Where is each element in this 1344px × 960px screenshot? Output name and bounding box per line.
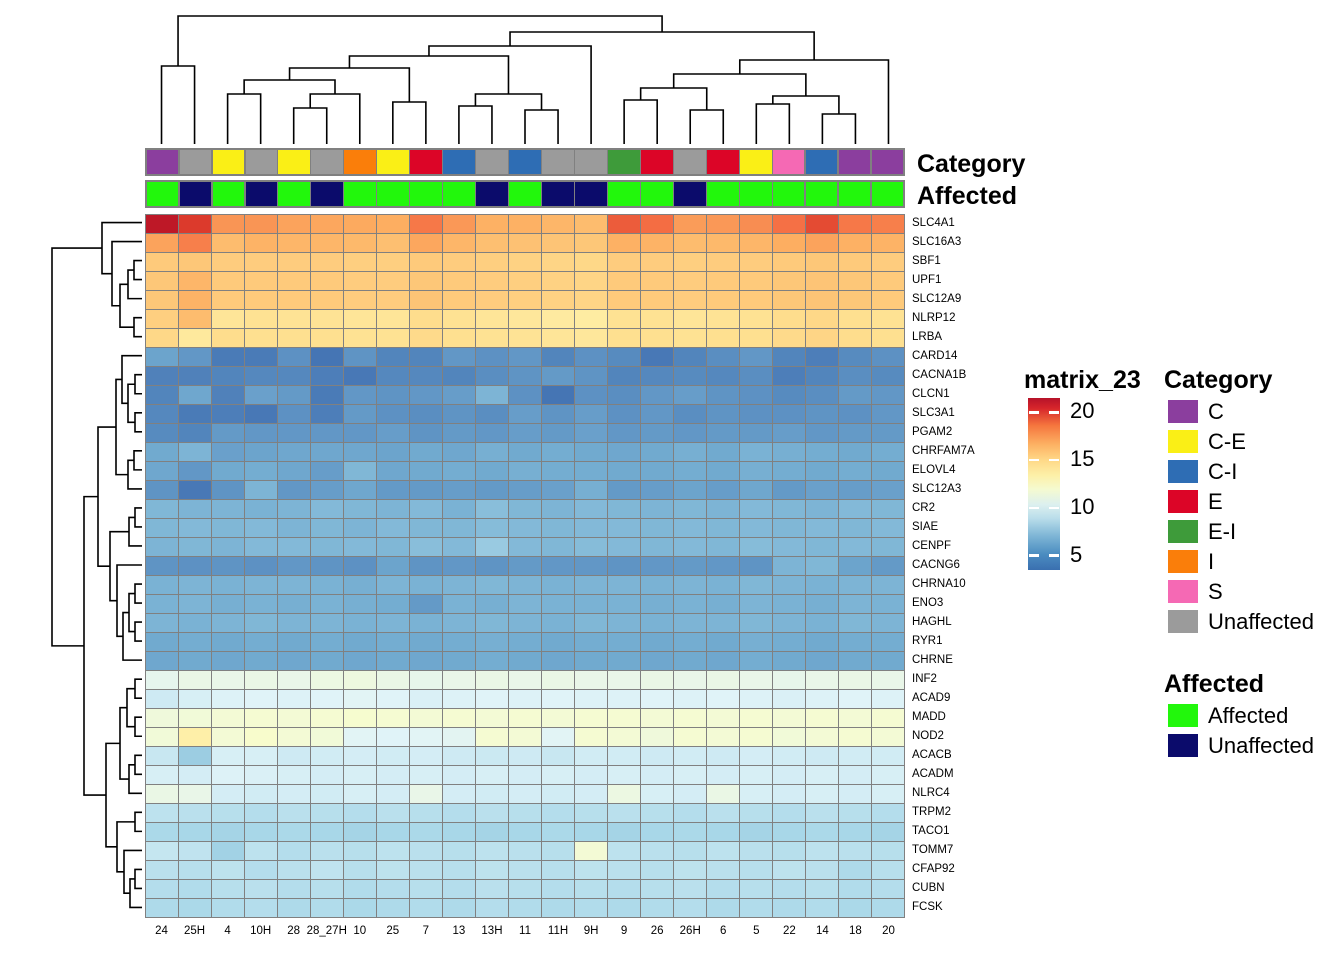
- affected-annotation-cell[interactable]: [707, 182, 738, 207]
- heatmap-cell[interactable]: [674, 576, 706, 594]
- heatmap-cell[interactable]: [377, 481, 409, 499]
- heatmap-cell[interactable]: [146, 766, 178, 784]
- heatmap-cell[interactable]: [311, 386, 343, 404]
- heatmap-cell[interactable]: [773, 576, 805, 594]
- heatmap-cell[interactable]: [146, 253, 178, 271]
- heatmap-cell[interactable]: [410, 500, 442, 518]
- heatmap-cell[interactable]: [872, 785, 904, 803]
- heatmap-cell[interactable]: [674, 329, 706, 347]
- heatmap-cell[interactable]: [377, 652, 409, 670]
- heatmap-cell[interactable]: [542, 614, 574, 632]
- heatmap-cell[interactable]: [707, 405, 739, 423]
- heatmap-cell[interactable]: [641, 614, 673, 632]
- heatmap-cell[interactable]: [410, 424, 442, 442]
- heatmap-cell[interactable]: [575, 804, 607, 822]
- heatmap-cell[interactable]: [608, 272, 640, 290]
- heatmap-cell[interactable]: [641, 519, 673, 537]
- heatmap-cell[interactable]: [245, 272, 277, 290]
- heatmap-cell[interactable]: [674, 367, 706, 385]
- heatmap-cell[interactable]: [641, 785, 673, 803]
- heatmap-cell[interactable]: [674, 804, 706, 822]
- heatmap-cell[interactable]: [311, 272, 343, 290]
- heatmap-cell[interactable]: [245, 462, 277, 480]
- heatmap-cell[interactable]: [278, 652, 310, 670]
- heatmap-cell[interactable]: [872, 234, 904, 252]
- heatmap-cell[interactable]: [608, 823, 640, 841]
- heatmap-cell[interactable]: [212, 747, 244, 765]
- heatmap-cell[interactable]: [179, 804, 211, 822]
- heatmap-cell[interactable]: [707, 462, 739, 480]
- heatmap-cell[interactable]: [443, 557, 475, 575]
- heatmap-cell[interactable]: [245, 823, 277, 841]
- heatmap-cell[interactable]: [674, 861, 706, 879]
- heatmap-cell[interactable]: [839, 671, 871, 689]
- heatmap-cell[interactable]: [773, 747, 805, 765]
- heatmap-cell[interactable]: [278, 861, 310, 879]
- heatmap-cell[interactable]: [674, 671, 706, 689]
- heatmap-cell[interactable]: [542, 747, 574, 765]
- heatmap-cell[interactable]: [740, 215, 772, 233]
- heatmap-cell[interactable]: [773, 310, 805, 328]
- heatmap-cell[interactable]: [872, 443, 904, 461]
- heatmap-cell[interactable]: [773, 671, 805, 689]
- heatmap-cell[interactable]: [641, 671, 673, 689]
- heatmap-cell[interactable]: [278, 785, 310, 803]
- heatmap-cell[interactable]: [146, 538, 178, 556]
- heatmap-cell[interactable]: [740, 500, 772, 518]
- heatmap-cell[interactable]: [641, 538, 673, 556]
- heatmap-cell[interactable]: [806, 690, 838, 708]
- heatmap-cell[interactable]: [212, 405, 244, 423]
- heatmap-cell[interactable]: [146, 310, 178, 328]
- heatmap-cell[interactable]: [872, 614, 904, 632]
- heatmap-cell[interactable]: [839, 576, 871, 594]
- heatmap-cell[interactable]: [476, 500, 508, 518]
- heatmap-cell[interactable]: [806, 557, 838, 575]
- heatmap-cell[interactable]: [410, 652, 442, 670]
- heatmap-cell[interactable]: [773, 481, 805, 499]
- heatmap-cell[interactable]: [872, 291, 904, 309]
- heatmap-cell[interactable]: [146, 652, 178, 670]
- heatmap-cell[interactable]: [608, 462, 640, 480]
- heatmap-cell[interactable]: [641, 823, 673, 841]
- heatmap-cell[interactable]: [740, 614, 772, 632]
- heatmap-cell[interactable]: [806, 538, 838, 556]
- heatmap-cell[interactable]: [344, 310, 376, 328]
- heatmap-cell[interactable]: [740, 595, 772, 613]
- heatmap-cell[interactable]: [476, 899, 508, 917]
- heatmap-cell[interactable]: [740, 709, 772, 727]
- heatmap-cell[interactable]: [872, 462, 904, 480]
- heatmap-cell[interactable]: [476, 405, 508, 423]
- heatmap-cell[interactable]: [806, 443, 838, 461]
- heatmap-cell[interactable]: [641, 272, 673, 290]
- heatmap-cell[interactable]: [410, 709, 442, 727]
- heatmap-cell[interactable]: [740, 253, 772, 271]
- heatmap-cell[interactable]: [674, 747, 706, 765]
- heatmap-cell[interactable]: [410, 633, 442, 651]
- heatmap-cell[interactable]: [410, 272, 442, 290]
- heatmap-cell[interactable]: [806, 899, 838, 917]
- heatmap-cell[interactable]: [542, 367, 574, 385]
- heatmap-cell[interactable]: [212, 671, 244, 689]
- heatmap-cell[interactable]: [740, 405, 772, 423]
- category-annotation-cell[interactable]: [542, 150, 573, 175]
- heatmap-cell[interactable]: [707, 747, 739, 765]
- heatmap-cell[interactable]: [344, 747, 376, 765]
- heatmap-cell[interactable]: [806, 671, 838, 689]
- heatmap-cell[interactable]: [674, 652, 706, 670]
- category-annotation-cell[interactable]: [311, 150, 342, 175]
- heatmap-cell[interactable]: [443, 842, 475, 860]
- heatmap-cell[interactable]: [245, 519, 277, 537]
- heatmap-cell[interactable]: [575, 519, 607, 537]
- heatmap-cell[interactable]: [146, 728, 178, 746]
- heatmap-cell[interactable]: [806, 880, 838, 898]
- heatmap-cell[interactable]: [674, 557, 706, 575]
- heatmap-cell[interactable]: [839, 899, 871, 917]
- heatmap-cell[interactable]: [443, 462, 475, 480]
- heatmap-cell[interactable]: [245, 652, 277, 670]
- heatmap-cell[interactable]: [476, 595, 508, 613]
- heatmap-cell[interactable]: [806, 804, 838, 822]
- heatmap-cell[interactable]: [806, 310, 838, 328]
- heatmap-cell[interactable]: [509, 842, 541, 860]
- heatmap-cell[interactable]: [245, 899, 277, 917]
- heatmap-cell[interactable]: [212, 842, 244, 860]
- heatmap-cell[interactable]: [212, 443, 244, 461]
- heatmap-cell[interactable]: [806, 728, 838, 746]
- heatmap-cell[interactable]: [608, 861, 640, 879]
- heatmap-cell[interactable]: [773, 215, 805, 233]
- heatmap-cell[interactable]: [377, 785, 409, 803]
- heatmap-cell[interactable]: [245, 842, 277, 860]
- heatmap-cell[interactable]: [179, 747, 211, 765]
- heatmap-cell[interactable]: [179, 329, 211, 347]
- heatmap-cell[interactable]: [476, 519, 508, 537]
- heatmap-cell[interactable]: [707, 424, 739, 442]
- heatmap-cell[interactable]: [377, 329, 409, 347]
- heatmap-cell[interactable]: [608, 234, 640, 252]
- heatmap-cell[interactable]: [443, 747, 475, 765]
- heatmap-cell[interactable]: [707, 253, 739, 271]
- heatmap-cell[interactable]: [674, 348, 706, 366]
- heatmap-cell[interactable]: [872, 367, 904, 385]
- heatmap-cell[interactable]: [212, 880, 244, 898]
- heatmap-cell[interactable]: [740, 671, 772, 689]
- heatmap-cell[interactable]: [146, 215, 178, 233]
- heatmap-cell[interactable]: [410, 614, 442, 632]
- heatmap-cell[interactable]: [641, 652, 673, 670]
- heatmap-cell[interactable]: [443, 709, 475, 727]
- heatmap-cell[interactable]: [509, 253, 541, 271]
- heatmap-cell[interactable]: [740, 386, 772, 404]
- heatmap-cell[interactable]: [146, 234, 178, 252]
- heatmap-cell[interactable]: [476, 728, 508, 746]
- heatmap-cell[interactable]: [641, 576, 673, 594]
- heatmap-cell[interactable]: [773, 405, 805, 423]
- heatmap-cell[interactable]: [344, 804, 376, 822]
- heatmap-cell[interactable]: [839, 234, 871, 252]
- heatmap-cell[interactable]: [509, 557, 541, 575]
- heatmap-cell[interactable]: [542, 652, 574, 670]
- affected-annotation-cell[interactable]: [542, 182, 573, 207]
- heatmap-cell[interactable]: [278, 272, 310, 290]
- heatmap-cell[interactable]: [806, 481, 838, 499]
- heatmap-cell[interactable]: [707, 291, 739, 309]
- heatmap-cell[interactable]: [179, 538, 211, 556]
- affected-annotation-cell[interactable]: [410, 182, 441, 207]
- heatmap-cell[interactable]: [542, 291, 574, 309]
- heatmap-cell[interactable]: [443, 253, 475, 271]
- heatmap-cell[interactable]: [311, 538, 343, 556]
- heatmap-cell[interactable]: [146, 367, 178, 385]
- heatmap-cell[interactable]: [278, 424, 310, 442]
- heatmap-cell[interactable]: [311, 310, 343, 328]
- affected-annotation-cell[interactable]: [740, 182, 771, 207]
- heatmap-cell[interactable]: [542, 253, 574, 271]
- heatmap-cell[interactable]: [179, 652, 211, 670]
- heatmap-cell[interactable]: [377, 899, 409, 917]
- category-annotation-cell[interactable]: [410, 150, 441, 175]
- heatmap-cell[interactable]: [773, 652, 805, 670]
- heatmap-cell[interactable]: [542, 671, 574, 689]
- heatmap-cell[interactable]: [245, 804, 277, 822]
- heatmap-cell[interactable]: [641, 310, 673, 328]
- heatmap-cell[interactable]: [839, 728, 871, 746]
- heatmap-cell[interactable]: [146, 747, 178, 765]
- heatmap-cell[interactable]: [575, 842, 607, 860]
- heatmap-cell[interactable]: [641, 443, 673, 461]
- heatmap-cell[interactable]: [674, 538, 706, 556]
- heatmap-cell[interactable]: [608, 880, 640, 898]
- heatmap-cell[interactable]: [872, 519, 904, 537]
- affected-annotation-cell[interactable]: [806, 182, 837, 207]
- category-annotation-cell[interactable]: [575, 150, 606, 175]
- heatmap-cell[interactable]: [179, 462, 211, 480]
- heatmap-cell[interactable]: [344, 880, 376, 898]
- heatmap-cell[interactable]: [410, 595, 442, 613]
- heatmap-cell[interactable]: [806, 424, 838, 442]
- heatmap-cell[interactable]: [179, 215, 211, 233]
- heatmap-cell[interactable]: [806, 595, 838, 613]
- heatmap-cell[interactable]: [179, 557, 211, 575]
- heatmap-cell[interactable]: [443, 804, 475, 822]
- heatmap-cell[interactable]: [212, 234, 244, 252]
- heatmap-cell[interactable]: [806, 747, 838, 765]
- heatmap-cell[interactable]: [476, 443, 508, 461]
- heatmap-cell[interactable]: [608, 500, 640, 518]
- heatmap-cell[interactable]: [179, 595, 211, 613]
- category-annotation-cell[interactable]: [443, 150, 474, 175]
- heatmap-cell[interactable]: [179, 728, 211, 746]
- heatmap-cell[interactable]: [410, 842, 442, 860]
- heatmap-cell[interactable]: [278, 671, 310, 689]
- heatmap-cell[interactable]: [641, 329, 673, 347]
- heatmap-cell[interactable]: [245, 405, 277, 423]
- heatmap-cell[interactable]: [443, 367, 475, 385]
- heatmap-cell[interactable]: [245, 310, 277, 328]
- heatmap-cell[interactable]: [410, 823, 442, 841]
- heatmap-cell[interactable]: [476, 424, 508, 442]
- heatmap-cell[interactable]: [773, 462, 805, 480]
- heatmap-cell[interactable]: [476, 747, 508, 765]
- heatmap-cell[interactable]: [674, 899, 706, 917]
- heatmap-cell[interactable]: [146, 614, 178, 632]
- heatmap-cell[interactable]: [311, 424, 343, 442]
- heatmap-cell[interactable]: [212, 633, 244, 651]
- heatmap-cell[interactable]: [443, 633, 475, 651]
- heatmap-cell[interactable]: [740, 348, 772, 366]
- heatmap-cell[interactable]: [377, 614, 409, 632]
- heatmap-cell[interactable]: [674, 462, 706, 480]
- heatmap-cell[interactable]: [245, 215, 277, 233]
- heatmap-cell[interactable]: [839, 443, 871, 461]
- heatmap-cell[interactable]: [278, 481, 310, 499]
- heatmap-cell[interactable]: [278, 804, 310, 822]
- heatmap-cell[interactable]: [575, 671, 607, 689]
- heatmap-cell[interactable]: [542, 405, 574, 423]
- heatmap-cell[interactable]: [806, 614, 838, 632]
- heatmap-cell[interactable]: [641, 595, 673, 613]
- heatmap-cell[interactable]: [212, 519, 244, 537]
- heatmap-cell[interactable]: [410, 348, 442, 366]
- heatmap-cell[interactable]: [707, 576, 739, 594]
- heatmap-cell[interactable]: [212, 215, 244, 233]
- heatmap-cell[interactable]: [311, 234, 343, 252]
- heatmap-cell[interactable]: [410, 899, 442, 917]
- heatmap-cell[interactable]: [542, 538, 574, 556]
- heatmap-cell[interactable]: [542, 424, 574, 442]
- heatmap-cell[interactable]: [773, 348, 805, 366]
- heatmap-cell[interactable]: [476, 785, 508, 803]
- heatmap-cell[interactable]: [509, 500, 541, 518]
- heatmap-cell[interactable]: [179, 443, 211, 461]
- heatmap-cell[interactable]: [278, 519, 310, 537]
- heatmap-cell[interactable]: [839, 424, 871, 442]
- heatmap-cell[interactable]: [740, 747, 772, 765]
- heatmap-cell[interactable]: [278, 557, 310, 575]
- heatmap-cell[interactable]: [245, 424, 277, 442]
- heatmap-cell[interactable]: [476, 462, 508, 480]
- heatmap-cell[interactable]: [377, 842, 409, 860]
- heatmap-cell[interactable]: [443, 424, 475, 442]
- heatmap-cell[interactable]: [608, 576, 640, 594]
- heatmap-cell[interactable]: [542, 880, 574, 898]
- heatmap-cell[interactable]: [674, 253, 706, 271]
- heatmap-cell[interactable]: [443, 785, 475, 803]
- heatmap-cell[interactable]: [872, 253, 904, 271]
- heatmap-cell[interactable]: [542, 709, 574, 727]
- heatmap-cell[interactable]: [872, 595, 904, 613]
- heatmap-cell[interactable]: [872, 652, 904, 670]
- heatmap-cell[interactable]: [575, 538, 607, 556]
- heatmap-cell[interactable]: [608, 386, 640, 404]
- heatmap-cell[interactable]: [377, 367, 409, 385]
- heatmap-cell[interactable]: [608, 253, 640, 271]
- heatmap-cell[interactable]: [608, 557, 640, 575]
- heatmap-cell[interactable]: [476, 253, 508, 271]
- heatmap-cell[interactable]: [740, 234, 772, 252]
- heatmap-cell[interactable]: [278, 899, 310, 917]
- heatmap-cell[interactable]: [212, 424, 244, 442]
- heatmap-cell[interactable]: [344, 557, 376, 575]
- heatmap-cell[interactable]: [179, 614, 211, 632]
- heatmap-cell[interactable]: [641, 557, 673, 575]
- heatmap-cell[interactable]: [608, 519, 640, 537]
- heatmap-cell[interactable]: [674, 709, 706, 727]
- heatmap-cell[interactable]: [146, 899, 178, 917]
- heatmap-cell[interactable]: [245, 709, 277, 727]
- heatmap-cell[interactable]: [707, 880, 739, 898]
- heatmap-cell[interactable]: [872, 709, 904, 727]
- heatmap-cell[interactable]: [707, 386, 739, 404]
- heatmap-cell[interactable]: [377, 234, 409, 252]
- heatmap-cell[interactable]: [872, 557, 904, 575]
- heatmap-cell[interactable]: [773, 538, 805, 556]
- heatmap-cell[interactable]: [575, 690, 607, 708]
- heatmap-cell[interactable]: [476, 538, 508, 556]
- heatmap-cell[interactable]: [839, 652, 871, 670]
- heatmap-cell[interactable]: [509, 348, 541, 366]
- heatmap-cell[interactable]: [773, 728, 805, 746]
- heatmap-cell[interactable]: [872, 880, 904, 898]
- heatmap-cell[interactable]: [674, 443, 706, 461]
- heatmap-cell[interactable]: [740, 538, 772, 556]
- heatmap-cell[interactable]: [179, 424, 211, 442]
- heatmap-cell[interactable]: [773, 443, 805, 461]
- heatmap-cell[interactable]: [410, 291, 442, 309]
- heatmap-cell[interactable]: [575, 462, 607, 480]
- heatmap-cell[interactable]: [377, 880, 409, 898]
- heatmap-cell[interactable]: [641, 500, 673, 518]
- heatmap-cell[interactable]: [377, 861, 409, 879]
- heatmap-cell[interactable]: [509, 614, 541, 632]
- heatmap-cell[interactable]: [872, 690, 904, 708]
- heatmap-cell[interactable]: [476, 690, 508, 708]
- heatmap-cell[interactable]: [740, 633, 772, 651]
- heatmap-cell[interactable]: [641, 253, 673, 271]
- heatmap-cell[interactable]: [740, 652, 772, 670]
- heatmap-cell[interactable]: [443, 766, 475, 784]
- heatmap-cell[interactable]: [641, 424, 673, 442]
- heatmap-cell[interactable]: [344, 253, 376, 271]
- heatmap-cell[interactable]: [311, 728, 343, 746]
- category-annotation-cell[interactable]: [740, 150, 771, 175]
- heatmap-cell[interactable]: [773, 291, 805, 309]
- heatmap-cell[interactable]: [212, 481, 244, 499]
- heatmap-cell[interactable]: [542, 329, 574, 347]
- heatmap-cell[interactable]: [344, 652, 376, 670]
- heatmap-cell[interactable]: [311, 291, 343, 309]
- heatmap-cell[interactable]: [443, 538, 475, 556]
- heatmap-cell[interactable]: [344, 424, 376, 442]
- heatmap-cell[interactable]: [608, 842, 640, 860]
- heatmap-cell[interactable]: [707, 329, 739, 347]
- heatmap-cell[interactable]: [806, 367, 838, 385]
- heatmap-cell[interactable]: [410, 405, 442, 423]
- heatmap-cell[interactable]: [509, 291, 541, 309]
- heatmap-cell[interactable]: [278, 595, 310, 613]
- heatmap-cell[interactable]: [542, 766, 574, 784]
- heatmap-cell[interactable]: [212, 690, 244, 708]
- heatmap-cell[interactable]: [179, 481, 211, 499]
- heatmap-cell[interactable]: [839, 690, 871, 708]
- heatmap-cell[interactable]: [707, 785, 739, 803]
- heatmap-cell[interactable]: [146, 405, 178, 423]
- heatmap-cell[interactable]: [311, 443, 343, 461]
- heatmap-cell[interactable]: [212, 538, 244, 556]
